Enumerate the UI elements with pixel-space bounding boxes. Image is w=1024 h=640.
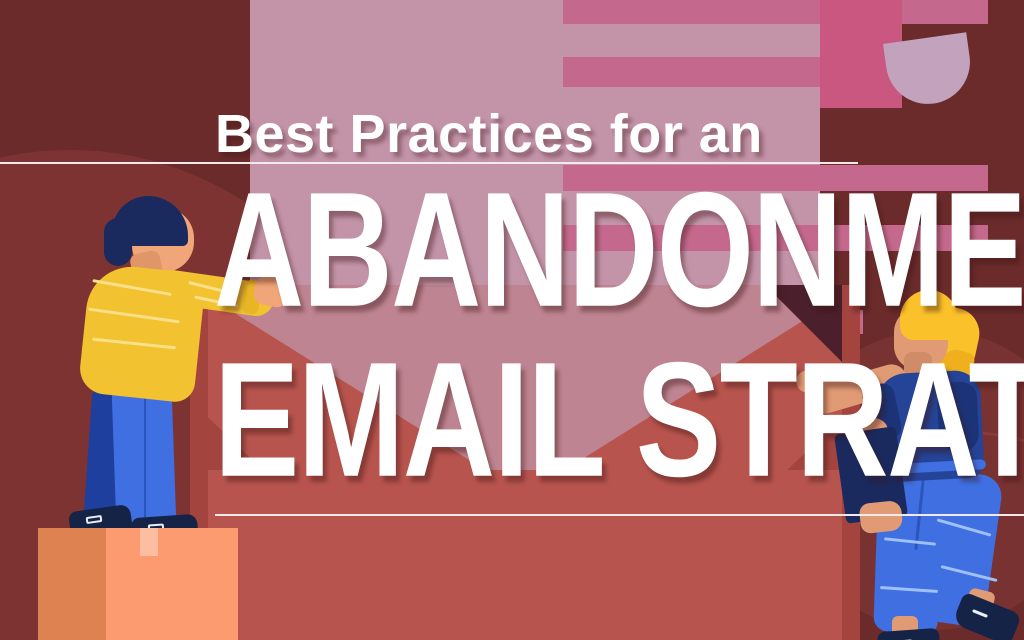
banner-root: Best Practices for an ABANDONMENT EMAIL … [0, 0, 1024, 640]
hand-holding [859, 500, 904, 534]
divider-rule-top [0, 162, 858, 164]
box-front-panel [106, 528, 238, 640]
envelope-graphic [190, 285, 860, 640]
document-text-line [563, 225, 988, 251]
hair [112, 196, 188, 246]
hair [900, 290, 958, 340]
envelope-body-front [208, 470, 842, 640]
illustration-person-left [48, 190, 263, 540]
box-tape [140, 528, 158, 556]
document-text-line [563, 165, 988, 191]
leg-crease [144, 388, 146, 524]
cardboard-box [38, 528, 238, 640]
divider-rule-bottom [215, 514, 1024, 516]
torso-shading [936, 381, 980, 453]
box-side-panel [38, 528, 106, 640]
illustration-person-right [800, 290, 1024, 640]
document-text-line [563, 0, 988, 24]
